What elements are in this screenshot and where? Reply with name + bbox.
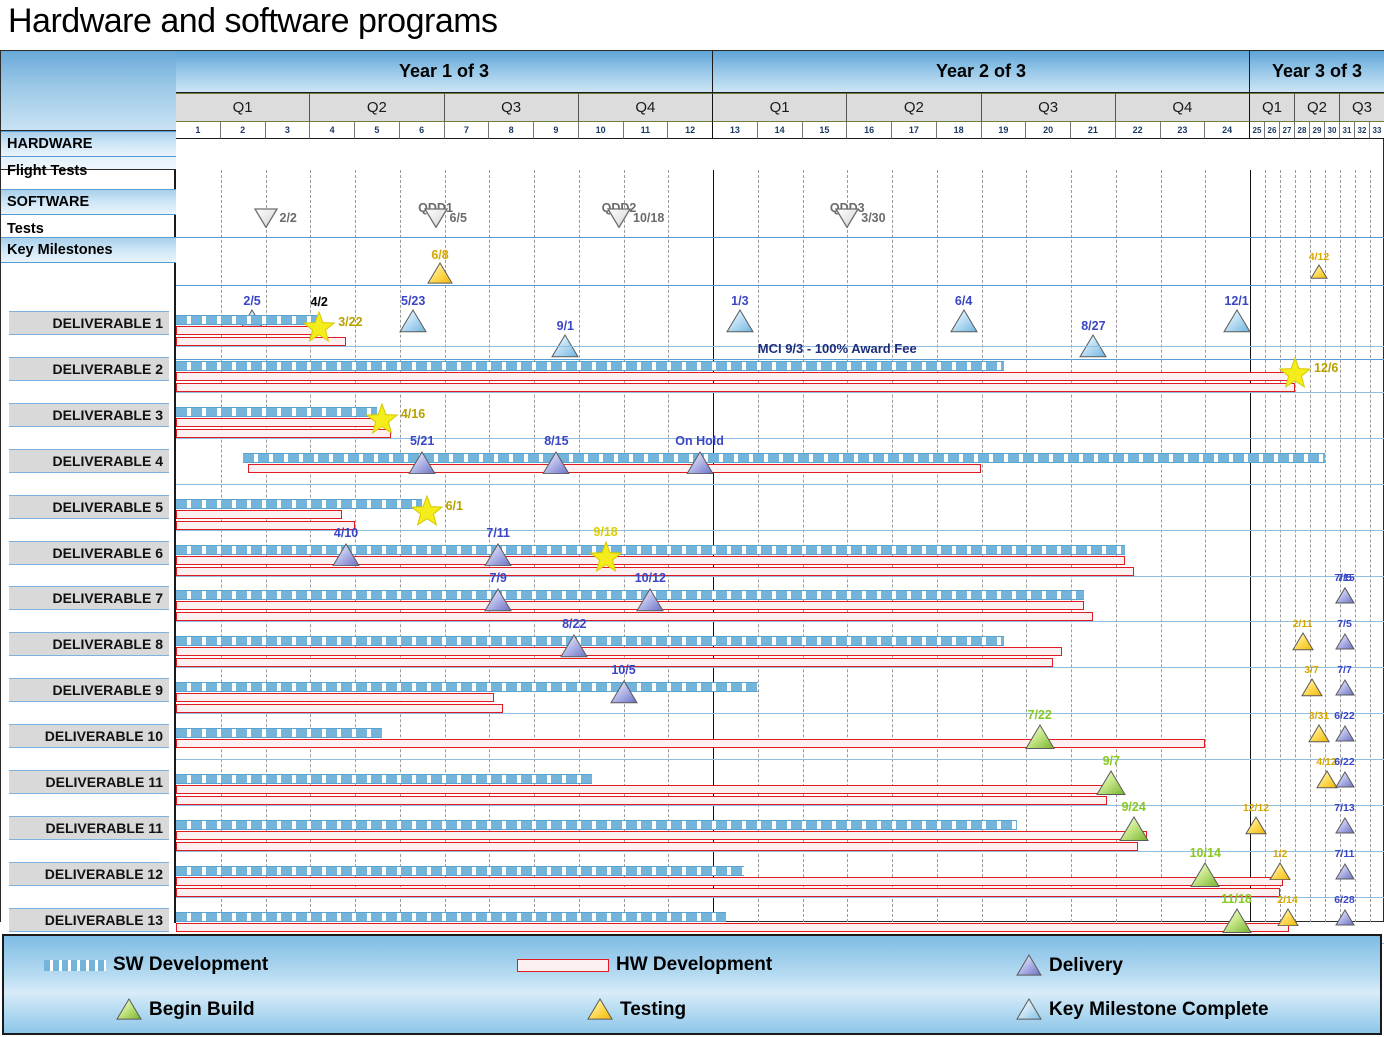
testing-date-label: 2/14 [1277,894,1297,906]
deliverable-row-label[interactable]: DELIVERABLE 11 [9,816,169,840]
begin-build-date-label: 9/24 [1121,800,1145,814]
delivery-icon [1016,954,1042,976]
flight-test-marker-3 [607,208,631,228]
delivery-date-label: 7/13 [1334,802,1354,814]
hw-development-bar[interactable] [176,556,1125,565]
testing-marker [1277,908,1299,927]
deliverable-row-label[interactable]: DELIVERABLE 10 [9,724,169,748]
delivery-marker [636,588,664,612]
testing-marker [1308,724,1330,743]
quarter-header-6: Q2 [847,93,981,122]
month-header-16: 16 [847,122,892,139]
legend-label: Key Milestone Complete [1049,999,1269,1021]
star-date-label: 4/16 [401,407,425,421]
year-header-3: Year 3 of 3 [1250,51,1384,93]
deliverable-row-label[interactable]: DELIVERABLE 4 [9,449,169,473]
month-header-18: 18 [937,122,982,139]
deliverable-row-label[interactable]: DELIVERABLE 6 [9,541,169,565]
month-header-13: 13 [713,122,758,139]
key-milestone-date-label-3: 9/1 [557,319,574,333]
gridline-month-32 [1355,170,1356,922]
hw-development-bar[interactable] [176,923,1289,932]
month-header-14: 14 [758,122,803,139]
section-separator-1 [176,237,1384,238]
testing-date-label: 1/2 [1273,848,1288,860]
star-date-label: 3/22 [338,315,362,329]
delivery-date-label: 7/5 [1337,572,1352,584]
hw-development-bar[interactable] [176,796,1107,805]
key-milestone-date-label-4: 1/3 [731,294,748,308]
section-separator-3 [176,359,1384,360]
award-star-marker [589,541,623,575]
sw-development-bar[interactable] [176,499,422,509]
delivery-marker [1335,725,1355,742]
month-header-30: 30 [1325,122,1340,139]
month-header-25: 25 [1250,122,1265,139]
deliverable-row-separator [176,667,1384,668]
testing-date-label: 12/12 [1243,802,1269,814]
quarter-header-8: Q4 [1116,93,1250,122]
quarter-header-11: Q3 [1340,93,1384,122]
key-milestone-date-label-2: 5/23 [401,294,425,308]
month-header-17: 17 [892,122,937,139]
testing-marker [1269,862,1291,881]
delivery-marker [484,588,512,612]
timeline-header: Year 1 of 3Year 2 of 3Year 3 of 3 Q1Q2Q3… [176,51,1384,170]
sw-development-bar[interactable] [176,912,726,922]
hw-development-bar[interactable] [176,693,494,702]
sw-development-bar[interactable] [176,774,592,784]
key-milestone-date-label-5: 6/4 [955,294,972,308]
month-header-27: 27 [1280,122,1295,139]
hw-development-bar[interactable] [176,521,355,530]
delivery-marker [1335,633,1355,650]
year-header-1: Year 1 of 3 [176,51,713,93]
month-header-33: 33 [1370,122,1384,139]
hw-development-bar[interactable] [176,842,1138,851]
section-label-hardware: HARDWARE [1,131,176,157]
begin-build-marker [1222,908,1252,934]
month-header-31: 31 [1340,122,1355,139]
hw-development-swatch [517,959,609,972]
year-header-2: Year 2 of 3 [713,51,1250,93]
month-header-9: 9 [534,122,579,139]
month-header-32: 32 [1355,122,1370,139]
page-title: Hardware and software programs [8,2,498,41]
month-header-10: 10 [579,122,624,139]
testing-marker-1 [427,262,453,284]
sw-development-bar[interactable] [176,728,382,738]
legend-item-hw-development: HW Development [517,954,772,976]
sw-development-bar[interactable] [176,820,1017,830]
deliverable-row-label[interactable]: DELIVERABLE 7 [9,586,169,610]
testing-date-label: 3/7 [1304,664,1319,676]
deliverable-row-label[interactable]: DELIVERABLE 8 [9,632,169,656]
award-star-marker [365,403,399,437]
deliverable-row-separator [176,897,1384,898]
delivery-marker [1335,679,1355,696]
section-label-key-milestones: Key Milestones [1,237,176,263]
delivery-date-label: On Hold [675,434,724,448]
begin-build-date-label: 11/18 [1221,892,1252,906]
month-header-23: 23 [1161,122,1206,139]
quarter-header-9: Q1 [1250,93,1295,122]
delivery-date-label: 5/21 [410,434,434,448]
month-header-20: 20 [1026,122,1071,139]
key-milestone-marker-4 [726,309,754,333]
delivery-date-label: 10/5 [611,663,635,677]
month-header-6: 6 [400,122,445,139]
deliverable-row-separator [176,392,1384,393]
sw-development-bar[interactable] [176,682,758,692]
begin-build-marker [1096,770,1126,796]
delivery-marker [1335,863,1355,880]
delivery-marker [560,634,588,658]
quarter-header-5: Q1 [713,93,847,122]
month-header-21: 21 [1071,122,1116,139]
hw-development-bar[interactable] [176,372,1295,381]
hw-development-bar[interactable] [176,383,1295,392]
delivery-marker [610,680,638,704]
testing-marker-2 [1310,264,1328,279]
begin-build-date-label: 9/7 [1103,754,1120,768]
month-header-29: 29 [1310,122,1325,139]
deliverable-row-label[interactable]: DELIVERABLE 12 [9,862,169,886]
begin-build-icon [116,998,142,1020]
legend-label: HW Development [616,954,772,976]
legend-label: Delivery [1049,955,1123,977]
deliverable-row-label[interactable]: DELIVERABLE 3 [9,403,169,427]
delivery-date-label: 7/11 [1335,848,1355,860]
begin-build-date-label: 7/22 [1028,708,1052,722]
testing-date-label: 2/11 [1293,618,1313,630]
month-header-4: 4 [310,122,355,139]
month-header-11: 11 [624,122,669,139]
hw-development-bar[interactable] [176,418,382,427]
sw-development-bar[interactable] [176,636,1004,646]
key-milestone-marker-5 [950,309,978,333]
deliverable-row-separator [176,576,1384,577]
flight-test-date-label-4: 3/30 [861,211,885,225]
deliverable-row-label[interactable]: DELIVERABLE 2 [9,357,169,381]
legend: SW DevelopmentHW DevelopmentDeliveryBegi… [2,934,1382,1035]
gridline-month-28 [1295,170,1296,922]
hw-development-bar[interactable] [176,877,1283,886]
gridline-month-29 [1310,170,1311,922]
flight-test-date-label-1: 2/2 [280,211,297,225]
legend-label: SW Development [113,954,268,976]
label-column-header [1,51,176,131]
flight-test-marker-4 [835,208,859,228]
hw-development-bar[interactable] [176,647,1062,656]
sw-development-swatch [44,960,106,971]
month-header-24: 24 [1205,122,1250,139]
begin-build-date-label: 10/14 [1190,846,1221,860]
delivery-marker [1335,817,1355,834]
delivery-date-label: 6/28 [1334,894,1354,906]
key-milestone-date-label-1: 2/5 [243,294,260,308]
delivery-date-label: 4/10 [334,526,358,540]
deliverable-row-label[interactable]: DELIVERABLE 1 [9,311,169,335]
flight-test-date-label-3: 10/18 [633,211,664,225]
delivery-date-label: 6/22 [1334,710,1354,722]
testing-marker [1292,632,1314,651]
testing-marker [1301,678,1323,697]
flight-test-marker-2 [424,208,448,228]
flight-test-date-label-2: 6/5 [450,211,467,225]
gridline-month-23 [1161,170,1162,922]
deliverable-row-separator [176,805,1384,806]
key-milestone-date-label-6: 8/27 [1081,319,1105,333]
legend-label: Begin Build [149,999,255,1021]
month-header-8: 8 [489,122,534,139]
begin-build-marker [1119,816,1149,842]
hw-development-bar[interactable] [176,831,1147,840]
delivery-marker [1335,587,1355,604]
testing-icon [587,998,613,1020]
test-date-label-2: 4/12 [1309,251,1329,263]
testing-icon-swatch [587,998,613,1021]
legend-item-sw-development: SW Development [44,954,268,976]
delivery-date-label: 8/15 [544,434,568,448]
begin-build-icon-swatch [116,998,142,1021]
hw-development-bar[interactable] [176,704,503,713]
key-milestone-icon [1016,998,1042,1020]
gridline-month-33 [1370,170,1371,922]
legend-item-testing: Testing [587,998,686,1021]
key-milestone-date-label-7: 12/1 [1224,294,1248,308]
sw-development-bar[interactable] [243,453,1325,463]
delivery-marker [1335,909,1355,926]
delivery-date-label: 6/22 [1334,756,1354,768]
month-header-22: 22 [1116,122,1161,139]
gridline-month-27 [1280,170,1281,922]
quarter-header-2: Q2 [310,93,444,122]
deliverable-row-separator [176,621,1384,622]
delivery-marker [686,451,714,475]
gridline-month-24 [1205,170,1206,922]
hw-development-bar[interactable] [248,464,982,473]
month-header-12: 12 [668,122,713,139]
legend-item-delivery: Delivery [1016,954,1123,977]
sw-development-bar[interactable] [176,545,1125,555]
hw-development-bar[interactable] [176,601,1084,610]
month-header-5: 5 [355,122,400,139]
begin-build-marker [1025,724,1055,750]
quarter-header-1: Q1 [176,93,310,122]
award-star-marker [410,495,444,529]
deliverable-row-separator [176,713,1384,714]
month-header-7: 7 [445,122,490,139]
delivery-marker [484,543,512,567]
deliverable-row-label[interactable]: DELIVERABLE 13 [9,908,169,932]
gantt-chart: HARDWAREFlight TestsSOFTWARETestsKey Mil… [0,50,1384,922]
month-header-26: 26 [1265,122,1280,139]
delivery-date-label: 7/7 [1337,664,1352,676]
deliverable-row-separator [176,484,1384,485]
delivery-marker [1335,771,1355,788]
key-milestone-marker-2 [399,309,427,333]
star-date-label: 12/6 [1314,361,1338,375]
testing-date-label: 3/31 [1309,710,1329,722]
hw-development-bar[interactable] [176,510,342,519]
star-date-label: 9/18 [593,525,617,539]
deliverable-row-label[interactable]: DELIVERABLE 11 [9,770,169,794]
delivery-marker [542,451,570,475]
deliverable-row-label[interactable]: DELIVERABLE 5 [9,495,169,519]
delivery-date-label: 7/5 [1337,618,1352,630]
delivery-marker [408,451,436,475]
sw-development-bar[interactable] [176,590,1084,600]
delivery-marker [332,543,360,567]
star-date-label: 6/1 [446,499,463,513]
deliverable-row-separator [176,759,1384,760]
award-star-marker [302,311,336,345]
star-upper-label: 4/2 [310,295,327,309]
test-date-label-1: 6/8 [431,248,448,262]
deliverable-row-separator [176,438,1384,439]
quarter-header-10: Q2 [1295,93,1340,122]
month-header-1: 1 [176,122,221,139]
month-header-3: 3 [266,122,311,139]
month-header-15: 15 [803,122,848,139]
sw-development-bar[interactable] [176,315,319,325]
row-label-column: HARDWAREFlight TestsSOFTWARETestsKey Mil… [1,51,176,923]
key-milestone-marker-7 [1223,309,1251,333]
sw-development-bar[interactable] [176,866,744,876]
testing-marker [1245,816,1267,835]
hw-development-bar[interactable] [176,429,391,438]
gantt-plot-area: 2/2QDD16/5QDD210/18QDD33/306/84/122/55/2… [176,170,1384,922]
delivery-date-label: 7/11 [486,526,510,540]
key-milestone-icon-swatch [1016,998,1042,1021]
section-label-software: SOFTWARE [1,189,176,215]
delivery-date-label: 7/9 [489,571,506,585]
deliverable-row-label[interactable]: DELIVERABLE 9 [9,678,169,702]
hw-development-bar[interactable] [176,785,1116,794]
legend-label: Testing [620,999,686,1021]
hw-development-bar[interactable] [176,888,1280,897]
section-separator-2 [176,285,1384,286]
gridline-month-30 [1325,170,1326,922]
section-label-flight-tests: Flight Tests [1,158,176,184]
begin-build-marker [1190,862,1220,888]
month-header-2: 2 [221,122,266,139]
flight-test-marker-1 [254,208,278,228]
month-header-19: 19 [982,122,1027,139]
quarter-header-4: Q4 [579,93,713,122]
legend-item-key-milestone-complete: Key Milestone Complete [1016,998,1269,1021]
award-star-marker [1278,357,1312,391]
quarter-header-7: Q3 [982,93,1116,122]
award-fee-annotation: MCI 9/3 - 100% Award Fee [758,341,917,356]
hw-development-bar[interactable] [176,612,1093,621]
delivery-date-label: 10/12 [635,571,666,585]
sw-development-bar[interactable] [176,361,1004,371]
delivery-date-label: 8/22 [562,617,586,631]
legend-item-begin-build: Begin Build [116,998,255,1021]
month-header-28: 28 [1295,122,1310,139]
delivery-icon-swatch [1016,954,1042,977]
quarter-header-3: Q3 [445,93,579,122]
sw-development-bar[interactable] [176,407,377,417]
